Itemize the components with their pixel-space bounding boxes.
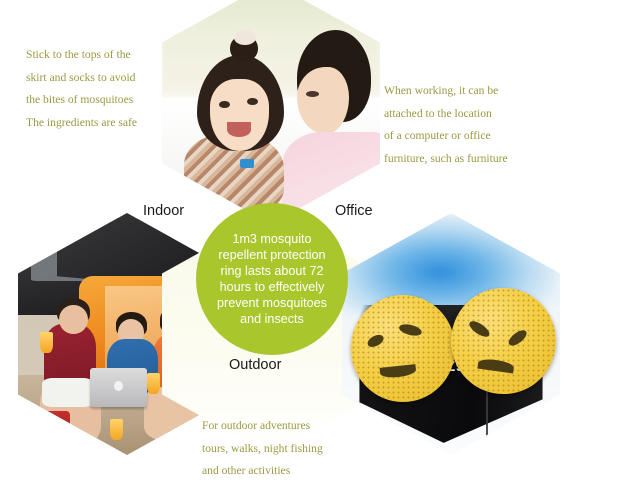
laptop [90, 368, 147, 407]
note-indoor-usage: Stick to the tops of the skirt and socks… [26, 44, 137, 134]
note-tr-line-4: furniture, such as furniture [384, 148, 508, 171]
child-hair-bow [234, 30, 256, 45]
center-statement-text: 1m3 mosquito repellent protection ring l… [217, 231, 327, 328]
center-statement-circle: 1m3 mosquito repellent protection ring l… [196, 203, 348, 355]
category-label-office: Office [335, 203, 373, 219]
child-eye-left [219, 101, 230, 108]
note-tl-line-1: Stick to the tops of the [26, 44, 137, 67]
repellent-disc-smiling-face-icon [351, 295, 456, 401]
adult-eye [306, 91, 319, 97]
disc-a-eye-left [366, 332, 385, 348]
note-tl-line-2: skirt and socks to avoid [26, 67, 137, 90]
indoor-family-photo [162, 0, 380, 224]
note-bl-line-1: For outdoor adventures [202, 415, 323, 438]
note-tl-line-3: the bites of mosquitoes [26, 89, 137, 112]
disc-b-eye-left [467, 319, 491, 340]
center-line-2: repellent protection [217, 247, 327, 263]
juice-glass-2 [147, 373, 160, 395]
note-office-usage: When working, it can be attached to the … [384, 80, 508, 170]
note-tr-line-1: When working, it can be [384, 80, 508, 103]
disc-a-eye-right [398, 322, 423, 337]
center-line-6: and insects [217, 311, 327, 327]
infographic-canvas: Z98 1m3 mosquito repellent protection ri… [0, 0, 640, 480]
center-line-3: ring lasts about 72 [217, 263, 327, 279]
category-label-indoor: Indoor [143, 203, 184, 219]
note-outdoor-usage: For outdoor adventures tours, walks, nig… [202, 415, 323, 483]
juice-glass-1 [40, 332, 53, 354]
camper-1-head [59, 305, 87, 334]
note-tl-line-4: The ingredients are safe [26, 112, 137, 135]
hexagon-product-photo: Z98 [342, 213, 560, 455]
center-line-4: hours to effectively [217, 279, 327, 295]
category-label-outdoor: Outdoor [229, 357, 281, 373]
child-mouth [227, 122, 251, 137]
disc-b-mouth [478, 358, 515, 373]
disc-b-eye-right [507, 327, 529, 347]
camper-1-shorts [42, 378, 94, 407]
repellent-badge-on-child [240, 159, 253, 169]
note-tr-line-2: attached to the location [384, 103, 508, 126]
note-tr-line-3: of a computer or office [384, 125, 508, 148]
disc-a-mouth [380, 364, 416, 378]
center-line-5: prevent mosquitoes [217, 295, 327, 311]
juice-glass-3 [110, 419, 123, 441]
note-bl-line-2: tours, walks, night fishing [202, 438, 323, 461]
repellent-disc-wincing-face-icon [451, 288, 556, 394]
hexagon-indoor-photo [162, 0, 380, 224]
note-bl-line-3: and other activities [202, 460, 323, 483]
product-device-photo: Z98 [342, 213, 560, 455]
camp-cooler [18, 411, 70, 450]
center-line-1: 1m3 mosquito [217, 231, 327, 247]
